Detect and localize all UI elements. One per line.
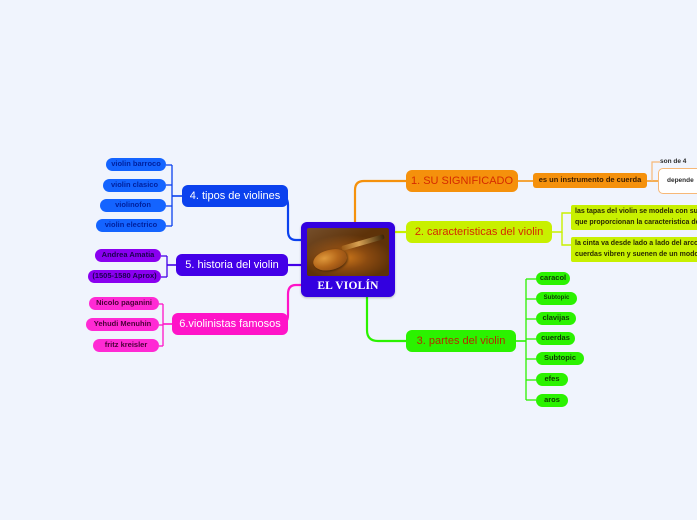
subtopic-yehudi-menuhin[interactable]: Yehudi Menuhin [86,318,159,331]
branch-famosos[interactable]: 6.violinistas famosos [172,313,288,335]
central-node[interactable]: EL VIOLÍN [301,222,395,297]
subtopic-partes-2[interactable]: Subtopic [536,292,577,305]
subtopic-cuerdas[interactable]: cuerdas [536,332,575,345]
subtopic-violin-clasico[interactable]: violin clasico [103,179,166,192]
subtopic-anios-amatia[interactable]: (1505-1580 Aprox) [88,270,161,283]
branch-historia[interactable]: 5. historia del violin [176,254,288,276]
subtopic-clavijas[interactable]: clavijas [536,312,576,325]
branch-tipos[interactable]: 4. tipos de violines [182,185,288,207]
branch-caracteristicas[interactable]: 2. caracteristicas del violin [406,221,552,243]
subtopic-caracol[interactable]: caracol [536,272,570,285]
mindmap-canvas[interactable]: EL VIOLÍN 1. SU SIGNIFICADO es un instru… [0,0,697,520]
subtopic-son-de-4[interactable]: son de 4 [660,156,697,168]
branch-significado[interactable]: 1. SU SIGNIFICADO [406,170,518,192]
subtopic-violin-electrico[interactable]: violin electrico [96,219,166,232]
central-node-title: EL VIOLÍN [317,280,378,293]
branch-partes[interactable]: 3. partes del violin [406,330,516,352]
subtopic-instrumento-de-cuerda[interactable]: es un instrumento de cuerda [533,173,647,188]
subtopic-cinta-del-arco[interactable]: la cinta va desde lado a lado del arco c… [571,237,697,262]
subtopic-tapas-del-violin[interactable]: las tapas del violin se modela con su qu… [571,205,697,230]
subtopic-nicolo-paganini[interactable]: Nicolo paganini [89,297,159,310]
subtopic-andrea-amatia[interactable]: Andrea Amatia [95,249,161,262]
subtopic-fritz-kreisler[interactable]: fritz kreisler [93,339,159,352]
violin-photo-icon [307,228,389,276]
subtopic-violinofon[interactable]: violinofon [100,199,166,212]
subtopic-efes[interactable]: efes [536,373,568,386]
subtopic-violin-barroco[interactable]: violin barroco [106,158,166,171]
subtopic-aros[interactable]: aros [536,394,568,407]
subtopic-depende[interactable]: depende [658,168,697,194]
subtopic-partes-5[interactable]: Subtopic [536,352,584,365]
